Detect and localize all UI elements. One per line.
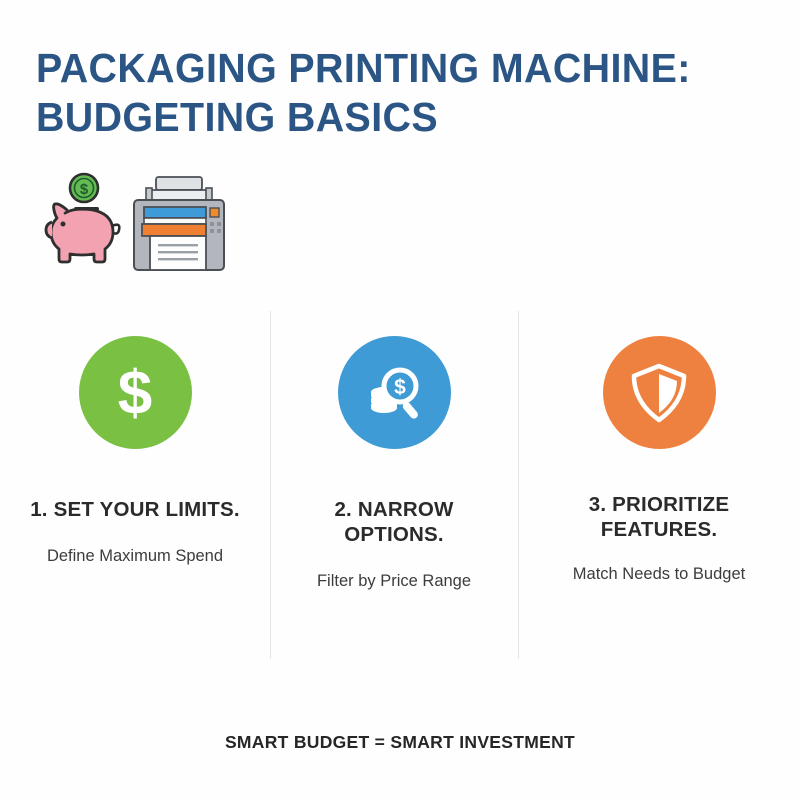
step-column-2: $ 2. NARROW OPTIONS. Filter by Price Ran… xyxy=(270,330,518,592)
step-3-heading: 3. PRIORITIZE FEATURES. xyxy=(532,492,786,542)
svg-text:$: $ xyxy=(394,376,406,399)
step-column-1: $ 1. SET YOUR LIMITS. Define Maximum Spe… xyxy=(0,330,270,592)
step-2-heading: 2. NARROW OPTIONS. xyxy=(284,497,504,547)
step-3-badge xyxy=(603,336,716,449)
footer-tagline: SMART BUDGET = SMART INVESTMENT xyxy=(0,732,800,753)
printer-icon xyxy=(134,177,224,270)
svg-text:$: $ xyxy=(80,181,89,198)
page-title-line-2: BUDGETING BASICS xyxy=(36,93,708,142)
step-2-subtext: Filter by Price Range xyxy=(284,571,504,592)
step-3-subtext: Match Needs to Budget xyxy=(532,564,786,585)
step-1-heading: 1. SET YOUR LIMITS. xyxy=(14,497,256,522)
shield-icon xyxy=(630,362,688,424)
infographic-canvas: PACKAGING PRINTING MACHINE: BUDGETING BA… xyxy=(0,0,800,800)
step-1-subtext: Define Maximum Spend xyxy=(14,546,256,567)
dollar-sign-icon: $ xyxy=(104,362,166,424)
piggy-bank-icon: $ xyxy=(46,174,119,262)
steps-row: $ 1. SET YOUR LIMITS. Define Maximum Spe… xyxy=(0,330,800,592)
page-title-line-1: PACKAGING PRINTING MACHINE: xyxy=(36,44,708,93)
step-1-badge: $ xyxy=(79,336,192,449)
step-2-badge: $ xyxy=(338,336,451,449)
hero-illustration: $ xyxy=(34,170,234,280)
step-column-3: 3. PRIORITIZE FEATURES. Match Needs to B… xyxy=(518,330,800,592)
page-title: PACKAGING PRINTING MACHINE: BUDGETING BA… xyxy=(36,44,736,142)
coins-magnifier-icon: $ xyxy=(362,361,426,425)
svg-text:$: $ xyxy=(118,362,152,424)
